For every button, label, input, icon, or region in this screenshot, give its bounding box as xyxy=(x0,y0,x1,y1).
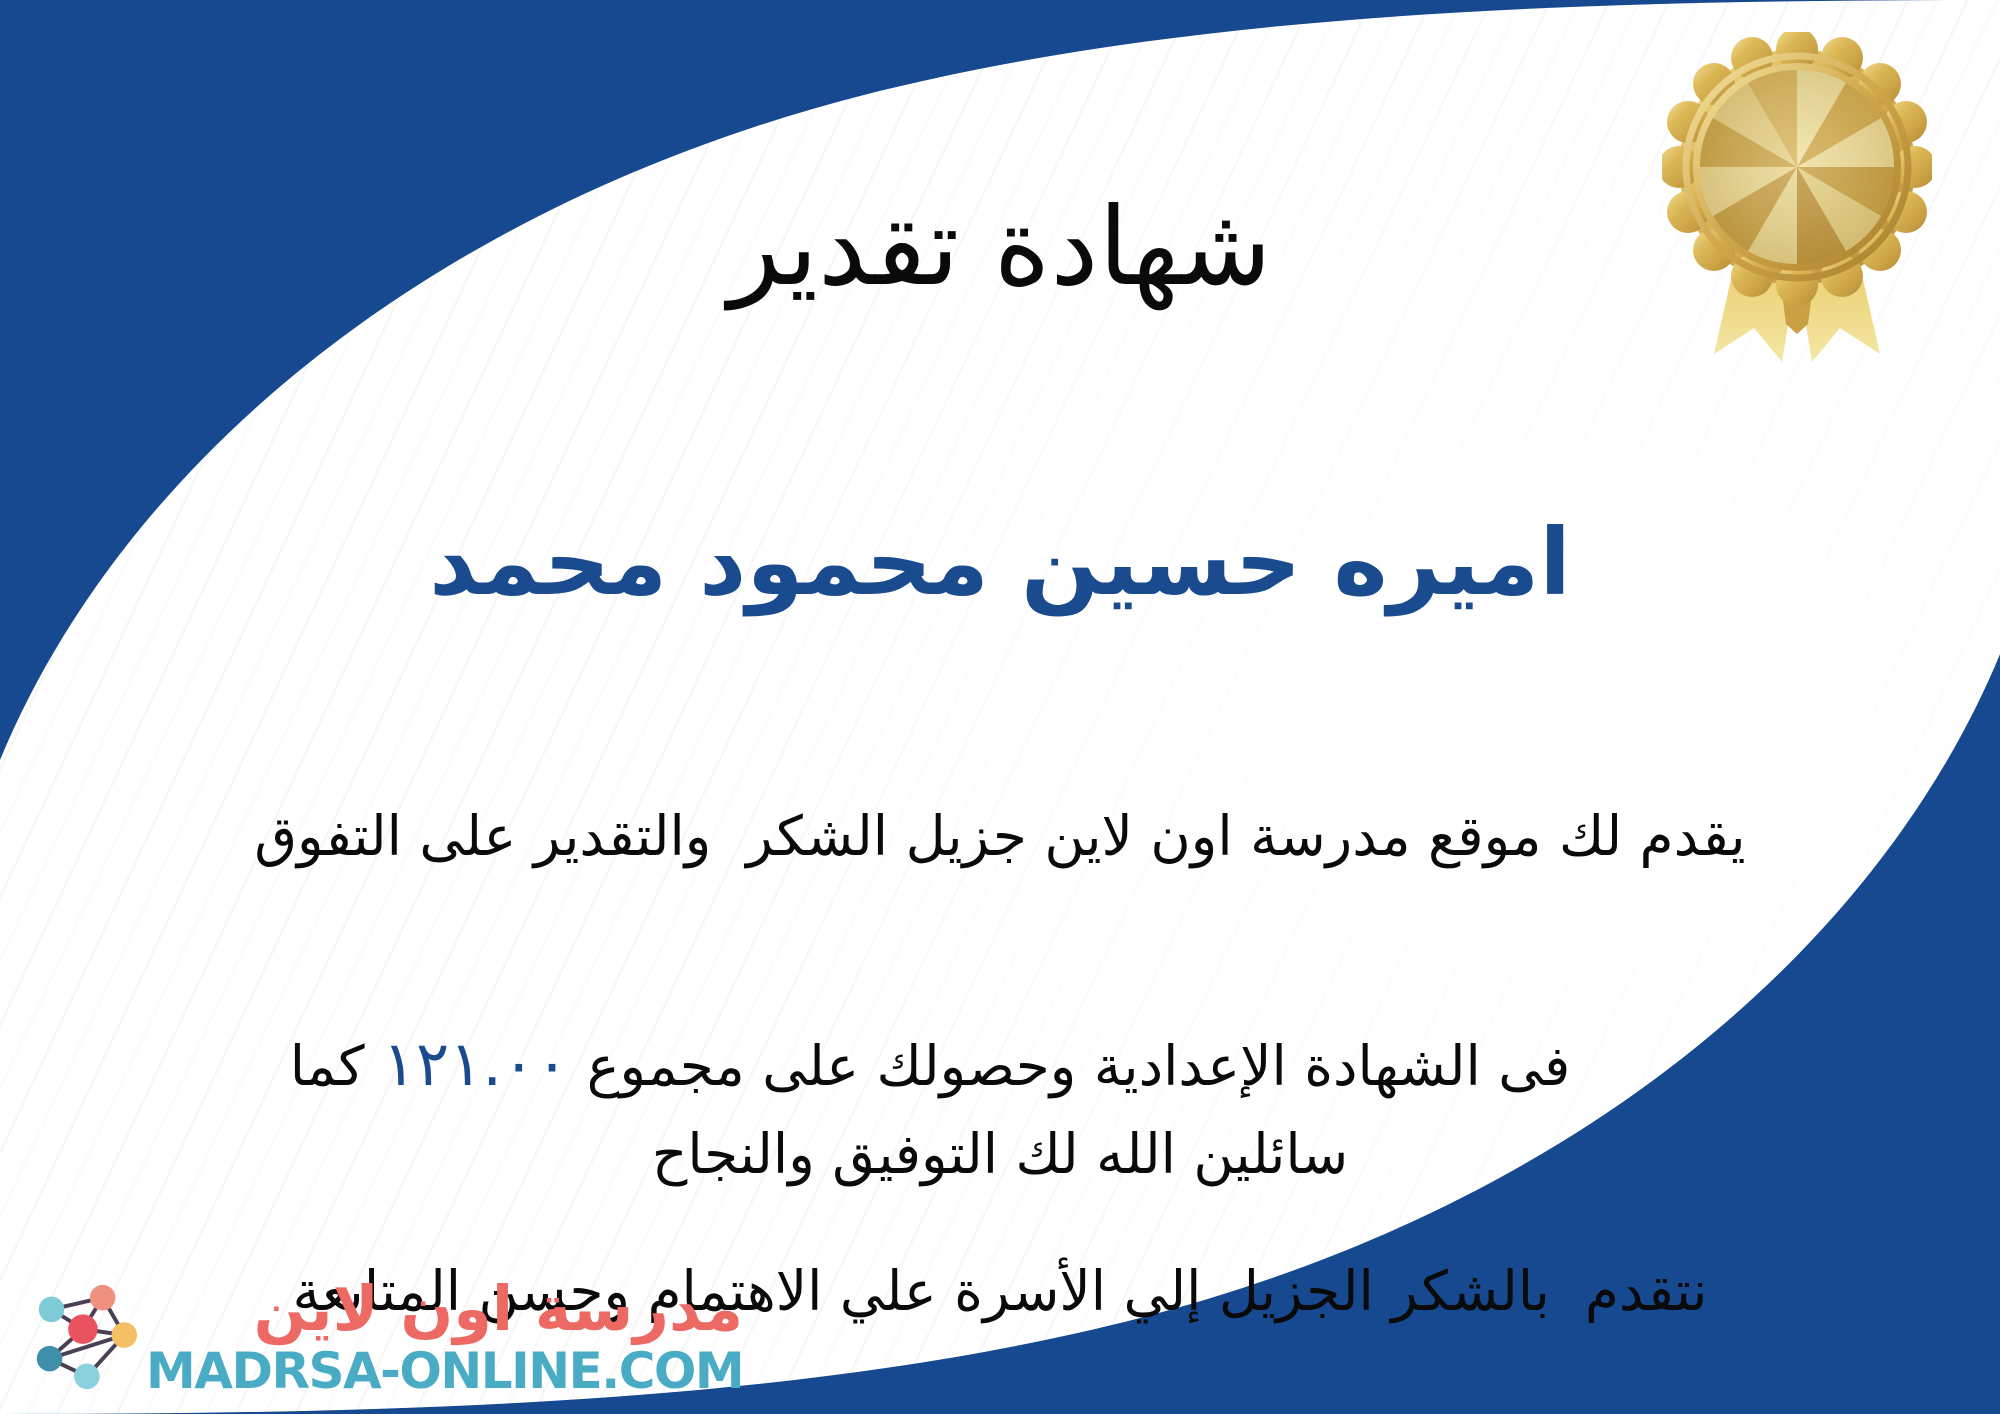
network-nodes-icon xyxy=(22,1278,140,1396)
recipient-name: اميره حسين محمود محمد xyxy=(0,508,2000,618)
body-line-2-suffix: كما xyxy=(290,1034,365,1098)
total-score-value: ١٢١.٠٠ xyxy=(365,1027,587,1100)
brand-logo[interactable]: مدرسة اون لاين MADRSA-ONLINE.COM xyxy=(22,1278,743,1396)
gold-award-medal-seal-icon xyxy=(1662,32,1932,362)
closing-wish: سائلين الله لك التوفيق والنجاح xyxy=(0,1115,2000,1195)
body-line-2-prefix: فى الشهادة الإعدادية وحصولك على مجموع xyxy=(587,1034,1571,1098)
brand-name-arabic: مدرسة اون لاين xyxy=(254,1278,744,1340)
body-line-1: يقدم لك موقع مدرسة اون لاين جزيل الشكر و… xyxy=(70,795,1930,879)
brand-domain: MADRSA-ONLINE.COM xyxy=(146,1346,743,1396)
certificate-canvas: شهادة تقدير اميره حسين محمود محمد يقدم ل… xyxy=(0,0,2000,1414)
medal-core xyxy=(1700,70,1894,264)
brand-logo-text: مدرسة اون لاين MADRSA-ONLINE.COM xyxy=(146,1278,743,1396)
